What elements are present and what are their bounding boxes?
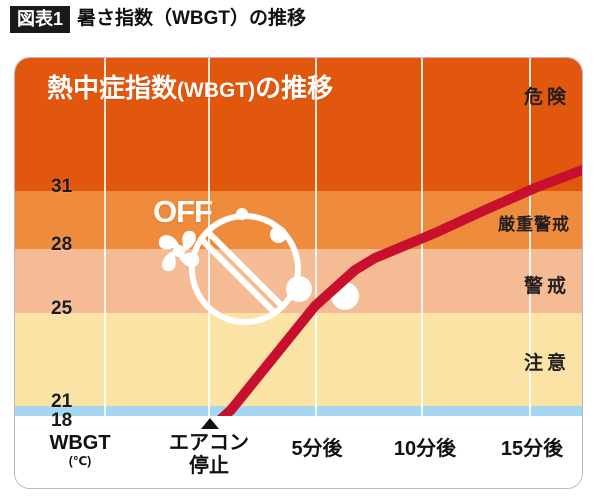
x-tick-15min: 15分後	[477, 432, 583, 461]
figure-header: 図表1 暑さ指数（WBGT）の推移	[0, 0, 600, 46]
x-tick-10min: 10分後	[370, 432, 480, 461]
figure-number-badge: 図表1	[10, 6, 70, 33]
y-tick-18: 18	[51, 410, 72, 432]
x-tick-aircon-stop-line1: エアコン	[150, 432, 268, 455]
page-title: 暑さ指数（WBGT）の推移	[77, 6, 306, 32]
wbgt-line-series	[15, 170, 582, 416]
y-axis-caption-unit: (℃)	[25, 454, 135, 468]
chart-plot-area: 熱中症指数(WBGT)の推移 31 28 25 21 危険 厳重警戒 警戒 注意…	[15, 58, 582, 416]
chart-card: 熱中症指数(WBGT)の推移 31 28 25 21 危険 厳重警戒 警戒 注意…	[14, 57, 583, 489]
chart-x-axis: WBGT (℃) エアコン 停止 5分後 10分後 15分後	[15, 416, 582, 488]
x-tick-aircon-stop: エアコン 停止	[150, 432, 268, 478]
x-tick-5min: 5分後	[267, 432, 367, 461]
x-tick-aircon-stop-line2: 停止	[150, 455, 268, 478]
chart-line-overlay	[15, 58, 582, 416]
y-axis-caption-name: WBGT	[49, 432, 110, 454]
aircon-stop-marker-icon	[201, 418, 219, 429]
y-axis-caption: WBGT (℃)	[25, 432, 135, 468]
